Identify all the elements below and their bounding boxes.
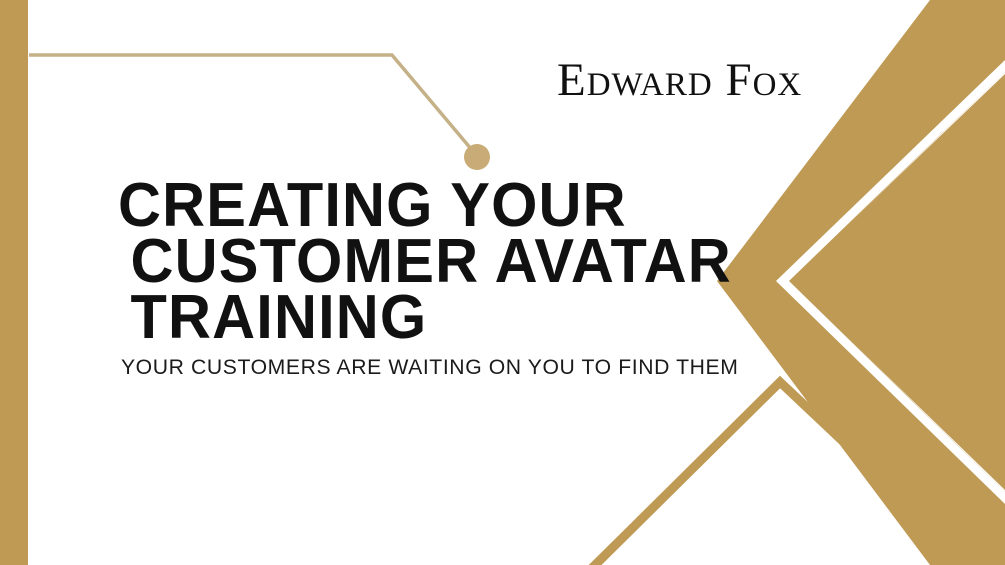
gold-dot bbox=[464, 144, 490, 170]
presentation-slide: Edward Fox Creating Your Customer Avatar… bbox=[0, 0, 1005, 565]
chevron-gap-mask bbox=[776, 60, 1005, 504]
solid-gold-chevron-body bbox=[789, 74, 1005, 490]
gold-connector-line bbox=[29, 55, 472, 150]
title-block: Creating Your Customer Avatar Training Y… bbox=[118, 178, 798, 378]
gold-connector-graphic bbox=[0, 0, 520, 200]
title-line-2: Customer Avatar bbox=[118, 234, 771, 290]
title-line-3: Training bbox=[118, 290, 771, 346]
title-line-1: Creating Your bbox=[118, 178, 771, 234]
outline-gold-chevron-bottom bbox=[585, 382, 1005, 565]
brand-name: Edward Fox bbox=[557, 57, 867, 104]
subtitle: Your customers are waiting on you to fin… bbox=[118, 356, 788, 378]
